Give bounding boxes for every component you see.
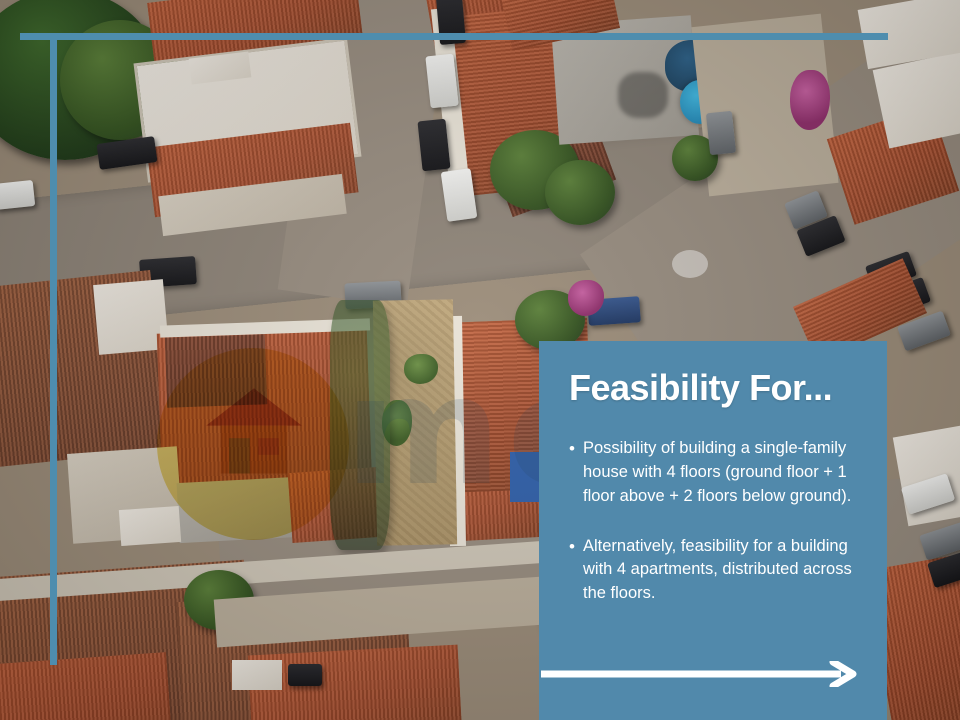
vertical-guide-line [50, 33, 57, 665]
feasibility-info-panel: Feasibility For... • Possibility of buil… [539, 341, 887, 720]
car [288, 664, 322, 686]
bullet-glyph: • [569, 437, 583, 509]
list-item: • Possibility of building a single-famil… [569, 437, 857, 509]
roof-shadow [618, 72, 668, 118]
slide-canvas: mo Feasibility For... • Possibility of b… [0, 0, 960, 720]
car [417, 119, 450, 172]
bullet-glyph: • [569, 535, 583, 607]
roundabout-marking [672, 250, 708, 278]
bullet-list: • Possibility of building a single-famil… [569, 437, 857, 607]
next-arrow-icon[interactable] [541, 661, 857, 687]
panel-title: Feasibility For... [569, 369, 857, 407]
bullet-text: Alternatively, feasibility for a buildin… [583, 535, 857, 607]
car [706, 111, 736, 155]
tree [545, 160, 615, 225]
rooftop-unit [232, 660, 282, 690]
house-icon [202, 382, 306, 486]
bullet-text: Possibility of building a single-family … [583, 437, 857, 509]
horizontal-guide-line [20, 33, 888, 40]
car [0, 180, 35, 210]
car [425, 54, 458, 109]
roof [0, 652, 174, 720]
list-item: • Alternatively, feasibility for a build… [569, 535, 857, 607]
rooftop-unit [119, 506, 181, 546]
